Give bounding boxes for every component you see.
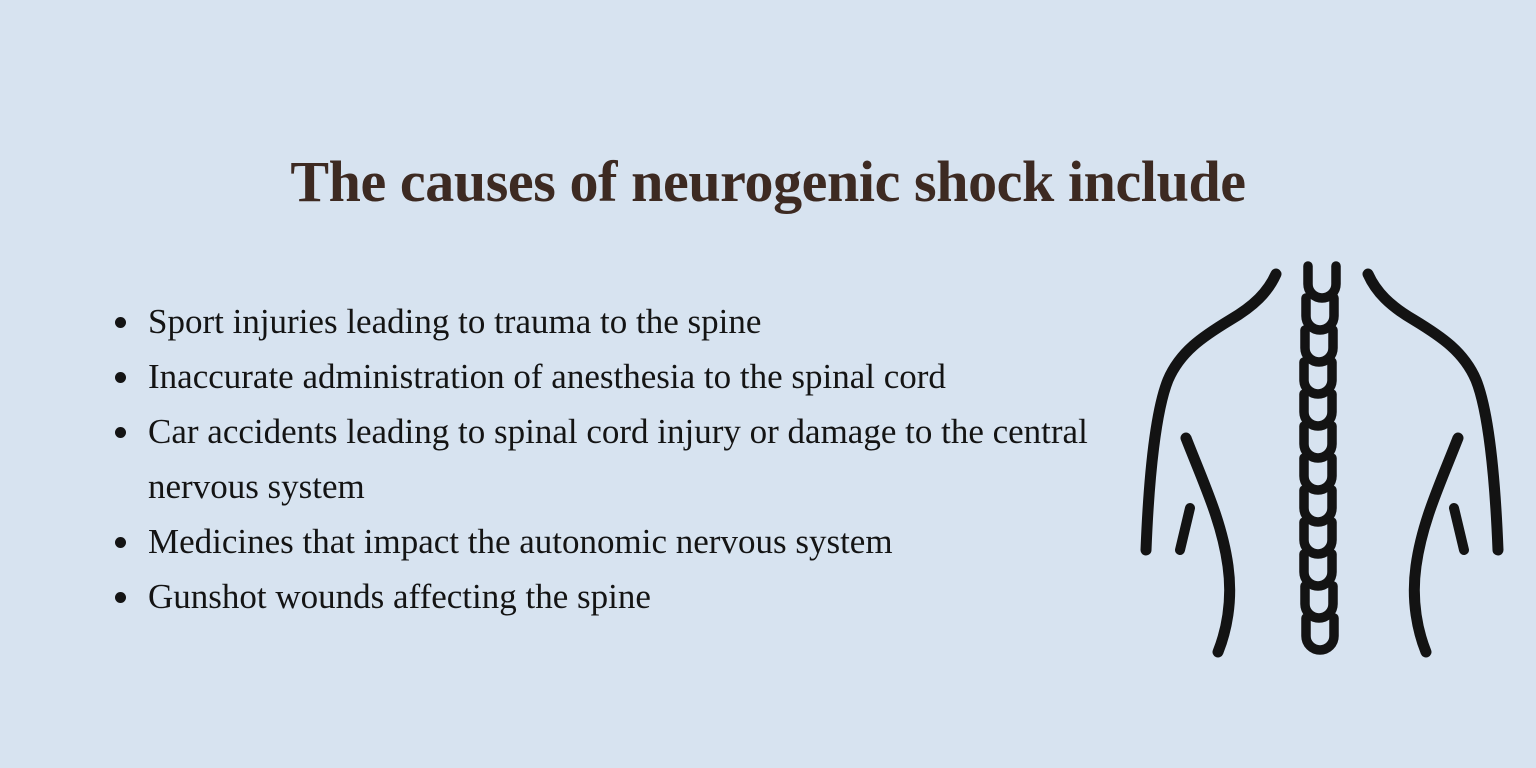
list-item: Gunshot wounds affecting the spine bbox=[108, 569, 1123, 624]
list-item-label: Sport injuries leading to trauma to the … bbox=[148, 294, 1123, 349]
human-back-torso-with-spine-icon bbox=[1118, 248, 1526, 668]
bullet-dot-icon bbox=[115, 592, 126, 603]
list-item: Car accidents leading to spinal cord inj… bbox=[108, 404, 1123, 514]
slide-canvas: The causes of neurogenic shock include S… bbox=[0, 0, 1536, 768]
list-item-label: Medicines that impact the autonomic nerv… bbox=[148, 514, 1123, 569]
causes-bullet-list: Sport injuries leading to trauma to the … bbox=[108, 294, 1123, 624]
list-item: Inaccurate administration of anesthesia … bbox=[108, 349, 1123, 404]
list-item-label: Gunshot wounds affecting the spine bbox=[148, 569, 1123, 624]
bullet-dot-icon bbox=[115, 372, 126, 383]
list-item-label: Inaccurate administration of anesthesia … bbox=[148, 349, 1123, 404]
list-item: Sport injuries leading to trauma to the … bbox=[108, 294, 1123, 349]
bullet-dot-icon bbox=[115, 427, 126, 438]
list-item-label: Car accidents leading to spinal cord inj… bbox=[148, 404, 1123, 514]
bullet-dot-icon bbox=[115, 317, 126, 328]
bullet-dot-icon bbox=[115, 537, 126, 548]
spine-column bbox=[1304, 266, 1336, 650]
page-title: The causes of neurogenic shock include bbox=[0, 147, 1536, 217]
list-item: Medicines that impact the autonomic nerv… bbox=[108, 514, 1123, 569]
